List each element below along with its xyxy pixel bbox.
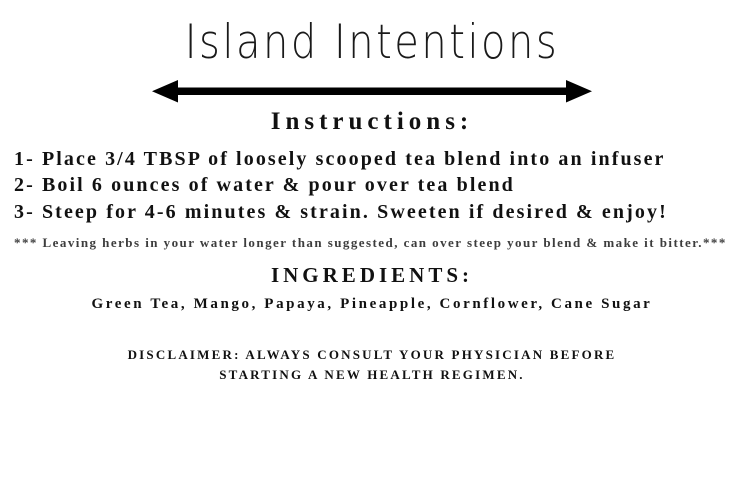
- instruction-step: 3- Steep for 4-6 minutes & strain. Sweet…: [14, 199, 736, 225]
- disclaimer-line-2: STARTING A NEW HEALTH REGIMEN.: [0, 365, 744, 385]
- disclaimer-line-1: DISCLAIMER: ALWAYS CONSULT YOUR PHYSICIA…: [0, 345, 744, 365]
- instructions-steps-list: 1- Place 3/4 TBSP of loosely scooped tea…: [0, 146, 744, 225]
- steeping-note: *** Leaving herbs in your water longer t…: [0, 233, 744, 253]
- recipe-card: Island Intentions Instructions: 1- Place…: [0, 0, 744, 496]
- instructions-heading: Instructions:: [0, 108, 744, 136]
- ingredients-list: Green Tea, Mango, Papaya, Pineapple, Cor…: [0, 296, 744, 313]
- instruction-step: 2- Boil 6 ounces of water & pour over te…: [14, 172, 736, 198]
- disclaimer: DISCLAIMER: ALWAYS CONSULT YOUR PHYSICIA…: [0, 345, 744, 385]
- double-arrow-horizontal-icon: [152, 78, 592, 104]
- page-title: Island Intentions: [0, 0, 744, 66]
- divider: [0, 76, 744, 106]
- instruction-step: 1- Place 3/4 TBSP of loosely scooped tea…: [14, 146, 736, 172]
- ingredients-heading: INGREDIENTS:: [0, 263, 744, 288]
